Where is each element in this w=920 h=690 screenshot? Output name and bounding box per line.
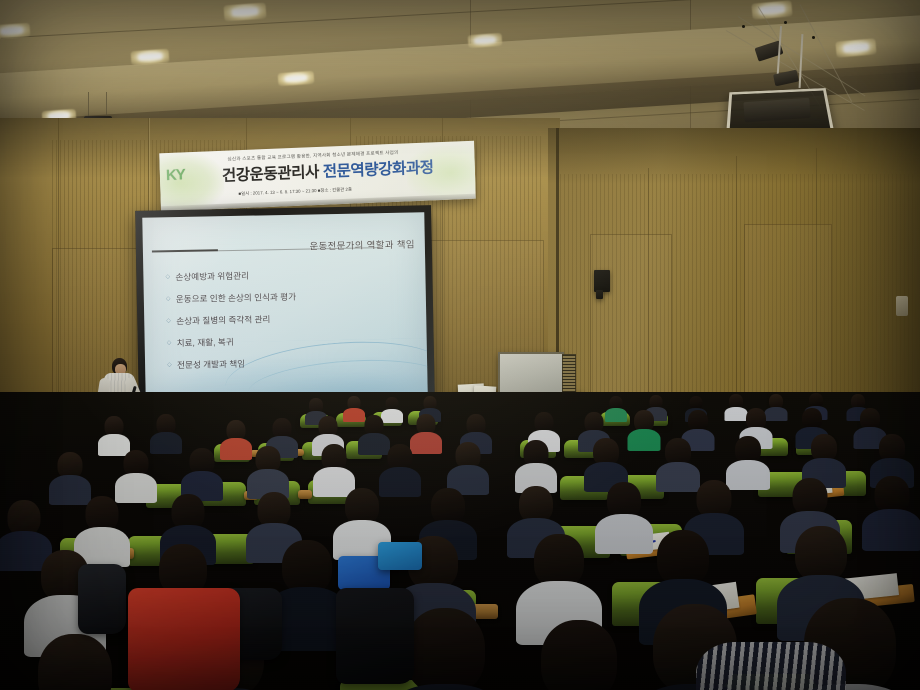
- wall-speaker: [596, 290, 603, 299]
- person-body: [628, 429, 661, 451]
- ky-logo: KY: [166, 166, 185, 184]
- person-head: [657, 530, 709, 586]
- audience-member: [382, 444, 418, 488]
- person-head: [282, 540, 332, 594]
- audience-member: [78, 496, 126, 554]
- red-jacket-bag: [128, 588, 240, 690]
- audience-member-striped: [706, 642, 836, 690]
- truss-node: [812, 36, 815, 39]
- dark-bag: [336, 588, 414, 684]
- black-backpack: [78, 564, 126, 634]
- audience-member: [450, 442, 486, 486]
- person-body: [696, 642, 846, 690]
- audience-member: [524, 534, 594, 622]
- audience-member: [660, 438, 696, 482]
- right-wall: [548, 128, 920, 428]
- audience-member: [524, 620, 634, 690]
- wall-speaker: [594, 270, 610, 292]
- seat-armrest: [298, 490, 312, 499]
- person-body: [605, 408, 627, 422]
- audience-member: [868, 476, 916, 534]
- audience-member: [222, 420, 250, 454]
- person-head: [541, 620, 617, 690]
- wall-sconce: [896, 296, 908, 316]
- audience-member: [630, 410, 658, 444]
- audience-member: [518, 440, 554, 484]
- audience-seating: [0, 392, 920, 690]
- audience-member: [806, 434, 842, 478]
- audience-member: [338, 488, 386, 546]
- audience-member: [874, 434, 910, 478]
- audience-member: [20, 634, 130, 690]
- person-body: [150, 432, 182, 454]
- slide-bullet: 운동으로 인한 손상의 인식과 평가: [166, 291, 414, 304]
- audience-member: [100, 416, 128, 450]
- person-head: [38, 634, 112, 690]
- person-body: [378, 684, 512, 690]
- person-body: [595, 514, 653, 554]
- audience-member: [118, 450, 154, 494]
- audience-member: [316, 444, 352, 488]
- person-head: [534, 534, 584, 588]
- audience-member: [412, 414, 440, 448]
- ceiling-light: [468, 33, 503, 48]
- audience-member: [600, 482, 648, 540]
- person-body: [220, 438, 252, 460]
- audience-member: [152, 414, 180, 448]
- person-head: [405, 608, 485, 690]
- audience-member: [250, 446, 286, 490]
- audience-member: [52, 452, 88, 496]
- banner-title-main: 건강운동관리사: [222, 164, 319, 185]
- ceiling-light: [0, 23, 30, 39]
- slide-bullet: 손상예방과 위험관리: [165, 269, 413, 282]
- banner-title-accent: 전문역량강화과정: [323, 159, 434, 180]
- blue-pouch: [378, 542, 422, 570]
- speaker-wire: [106, 92, 107, 118]
- truss-node: [742, 25, 745, 28]
- slide-bullet: 손상과 질병의 즉각적 관리: [166, 313, 414, 326]
- audience-member: [588, 438, 624, 482]
- ceiling-light: [278, 71, 315, 86]
- audience-member: [184, 448, 220, 492]
- whiteboard: [498, 352, 564, 396]
- slide-title-rule: [152, 249, 218, 253]
- audience-member: [730, 436, 766, 480]
- ventilation-grille: [562, 354, 576, 392]
- person-head: [795, 526, 847, 582]
- audience-member: [606, 396, 626, 418]
- slide-title: 운동전문가의 역할과 책임: [309, 236, 415, 252]
- truss-node: [784, 21, 787, 24]
- projected-slide: 운동전문가의 역할과 책임 손상예방과 위험관리 운동으로 인한 손상의 인식과…: [142, 212, 427, 397]
- ceiling-light: [223, 3, 266, 22]
- lecture-hall-photo: KY 심신과 스포츠 통합 교육 프로그램 활용한, 지역사회 청소년 문제해결…: [0, 0, 920, 690]
- projection-screen: 운동전문가의 역할과 책임 손상예방과 위험관리 운동으로 인한 손상의 인식과…: [135, 205, 435, 407]
- person-body: [862, 509, 920, 551]
- ceiling-light: [131, 49, 170, 66]
- audience-member: [272, 540, 342, 628]
- speaker-wire: [88, 92, 89, 118]
